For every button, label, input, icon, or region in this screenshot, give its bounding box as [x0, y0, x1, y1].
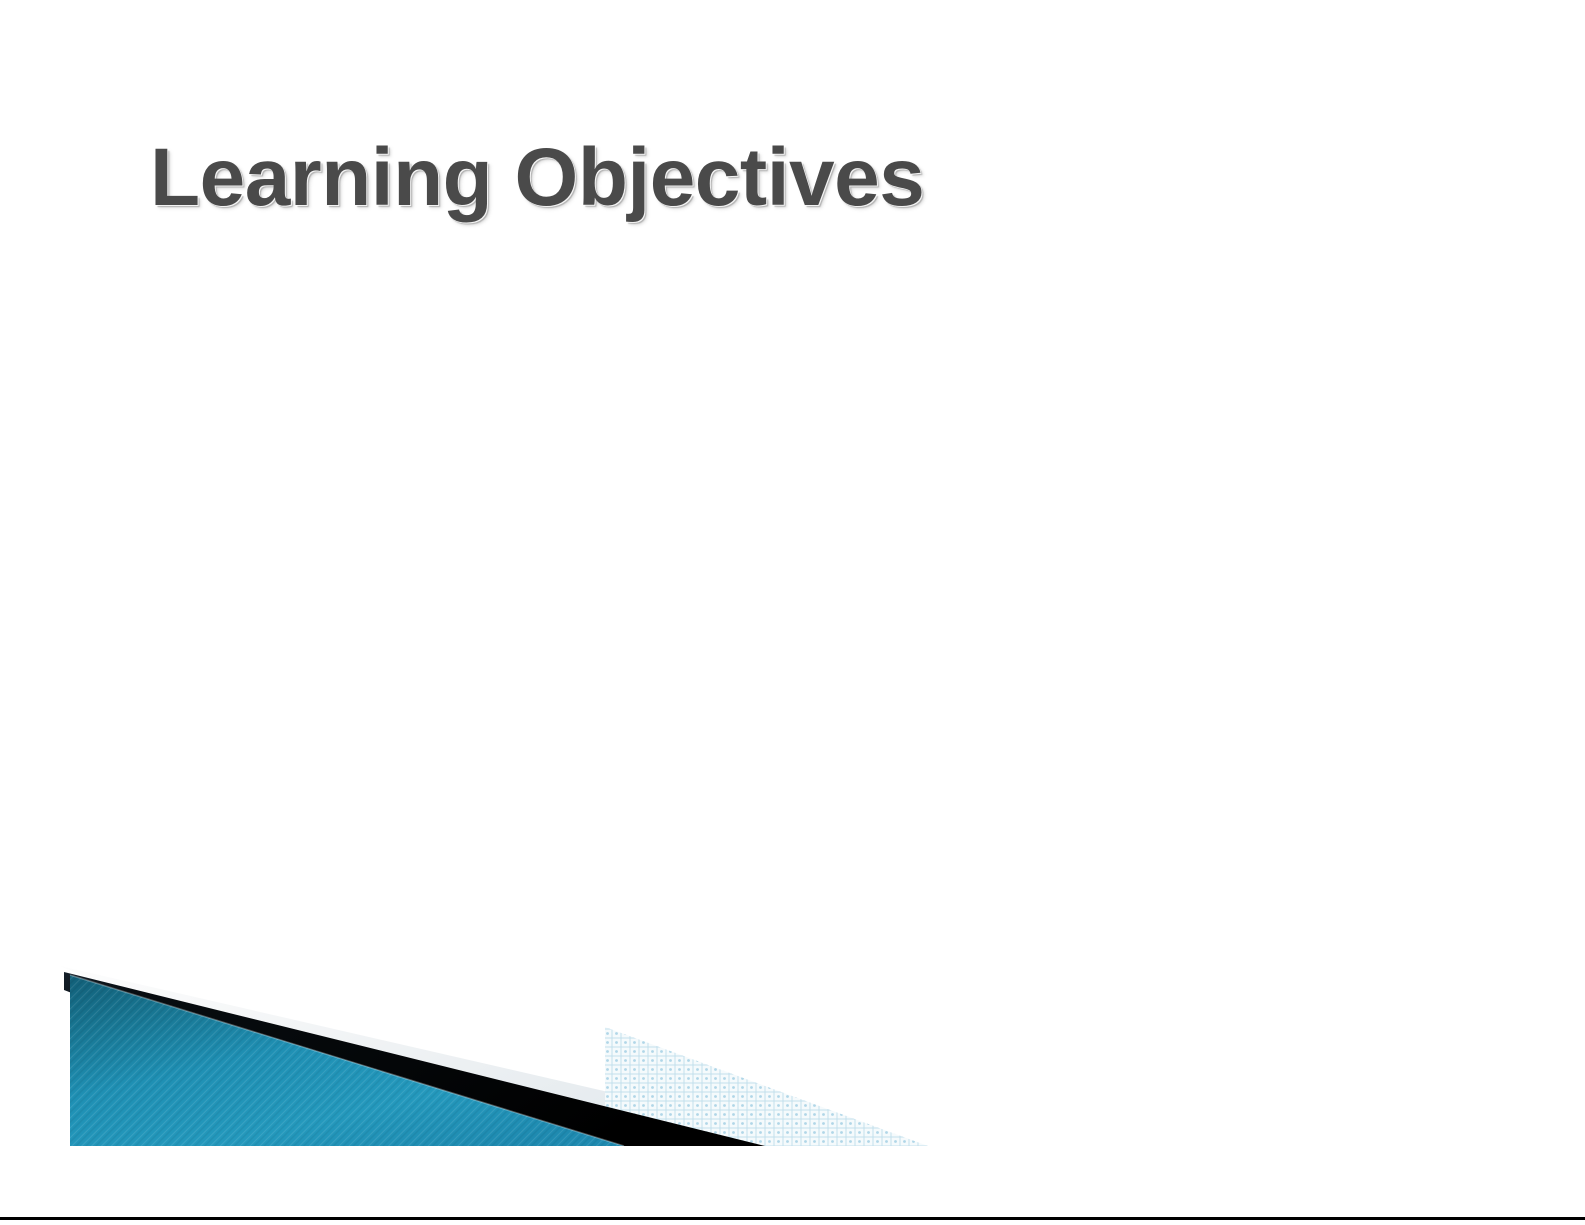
presentation-slide: Learning Objectives — [0, 0, 1585, 1225]
pale-gray-band-shape — [60, 966, 800, 1136]
halftone-blue-triangle-shape — [605, 1027, 928, 1146]
slide-content-placeholder[interactable] — [150, 268, 1440, 908]
corner-chevron-graphic — [0, 930, 1000, 1170]
bottom-divider — [0, 1217, 1585, 1220]
slide-surface: Learning Objectives — [0, 0, 1585, 1217]
black-wedge-shape — [64, 972, 765, 1146]
page-title: Learning Objectives — [150, 126, 1450, 230]
blue-gradient-triangle-shape — [70, 975, 624, 1146]
slide-title-placeholder[interactable]: Learning Objectives — [150, 126, 1450, 242]
